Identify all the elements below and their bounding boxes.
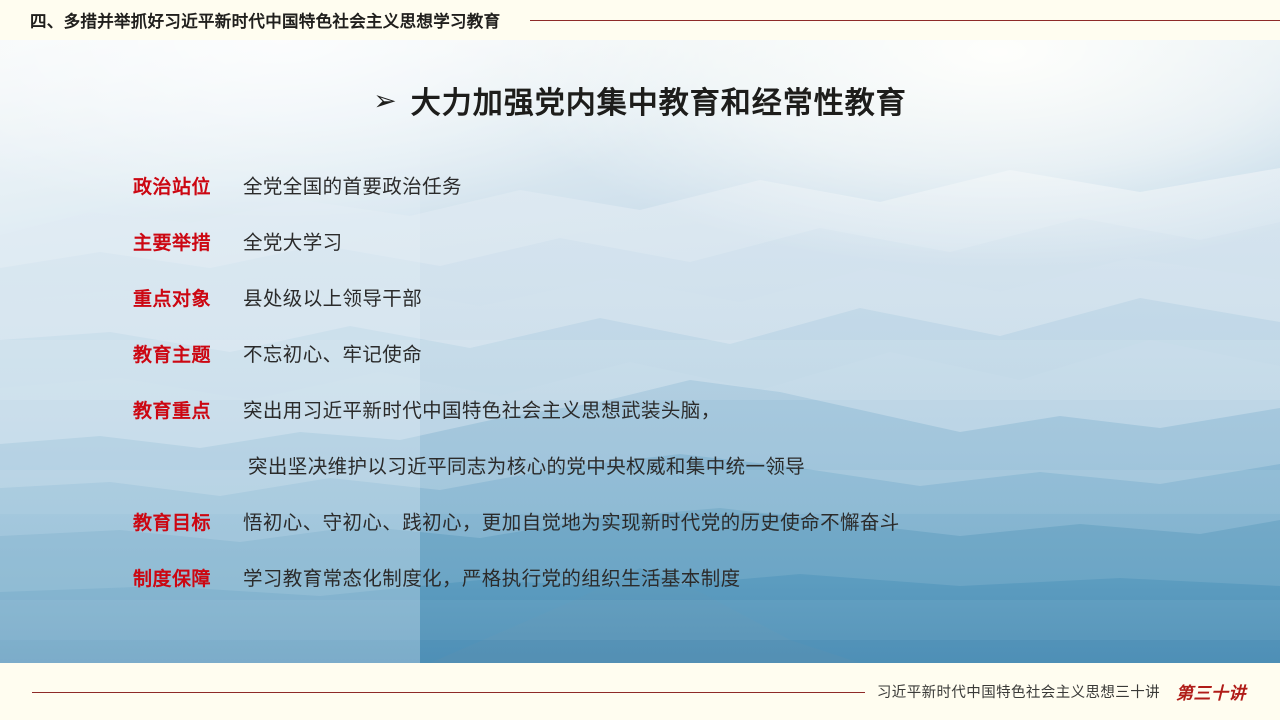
header-section-title: 四、多措并举抓好习近平新时代中国特色社会主义思想学习教育 — [30, 8, 500, 32]
footer-series-title: 习近平新时代中国特色社会主义思想三十讲 — [877, 681, 1160, 702]
row-label: 教育重点 — [133, 396, 238, 423]
content-row: 制度保障 学习教育常态化制度化，严格执行党的组织生活基本制度 — [0, 562, 1280, 618]
row-text: 突出用习近平新时代中国特色社会主义思想武装头脑， — [238, 394, 721, 423]
content-row: 主要举措 全党大学习 — [0, 226, 1280, 282]
content-rows-list: 政治站位 全党全国的首要政治任务 主要举措 全党大学习 重点对象 县处级以上领导… — [0, 170, 1280, 618]
footer-lecture-number: 第三十讲 — [1176, 679, 1246, 704]
row-label: 教育主题 — [133, 340, 238, 367]
row-text: 县处级以上领导干部 — [238, 282, 422, 311]
slide-header: 四、多措并举抓好习近平新时代中国特色社会主义思想学习教育 — [0, 0, 1280, 40]
row-text: 突出坚决维护以习近平同志为核心的党中央权威和集中统一领导 — [238, 450, 805, 479]
content-row: 政治站位 全党全国的首要政治任务 — [0, 170, 1280, 226]
content-row-continuation: 教育重点 突出坚决维护以习近平同志为核心的党中央权威和集中统一领导 — [0, 450, 1280, 506]
row-text: 不忘初心、牢记使命 — [238, 338, 422, 367]
slide-title-text: 大力加强党内集中教育和经常性教育 — [411, 78, 907, 122]
row-text: 全党大学习 — [238, 226, 343, 255]
row-text: 全党全国的首要政治任务 — [238, 170, 462, 199]
row-text: 学习教育常态化制度化，严格执行党的组织生活基本制度 — [238, 562, 741, 591]
row-label: 制度保障 — [133, 564, 238, 591]
slide-title: ➢ 大力加强党内集中教育和经常性教育 — [0, 78, 1280, 122]
content-row: 教育目标 悟初心、守初心、践初心，更加自觉地为实现新时代党的历史使命不懈奋斗 — [0, 506, 1280, 562]
slide-footer: 习近平新时代中国特色社会主义思想三十讲 第三十讲 — [0, 663, 1280, 720]
arrow-bullet-icon: ➢ — [373, 87, 396, 115]
row-label: 教育目标 — [133, 508, 238, 535]
content-row: 教育主题 不忘初心、牢记使命 — [0, 338, 1280, 394]
footer-divider-rule — [32, 692, 865, 693]
content-row: 重点对象 县处级以上领导干部 — [0, 282, 1280, 338]
presentation-slide: 四、多措并举抓好习近平新时代中国特色社会主义思想学习教育 ➢ 大力加强党内集中教… — [0, 0, 1280, 720]
content-row: 教育重点 突出用习近平新时代中国特色社会主义思想武装头脑， — [0, 394, 1280, 450]
row-label: 重点对象 — [133, 284, 238, 311]
header-divider-rule — [530, 20, 1280, 21]
row-text: 悟初心、守初心、践初心，更加自觉地为实现新时代党的历史使命不懈奋斗 — [238, 506, 900, 535]
row-label: 主要举措 — [133, 228, 238, 255]
row-label: 政治站位 — [133, 172, 238, 199]
